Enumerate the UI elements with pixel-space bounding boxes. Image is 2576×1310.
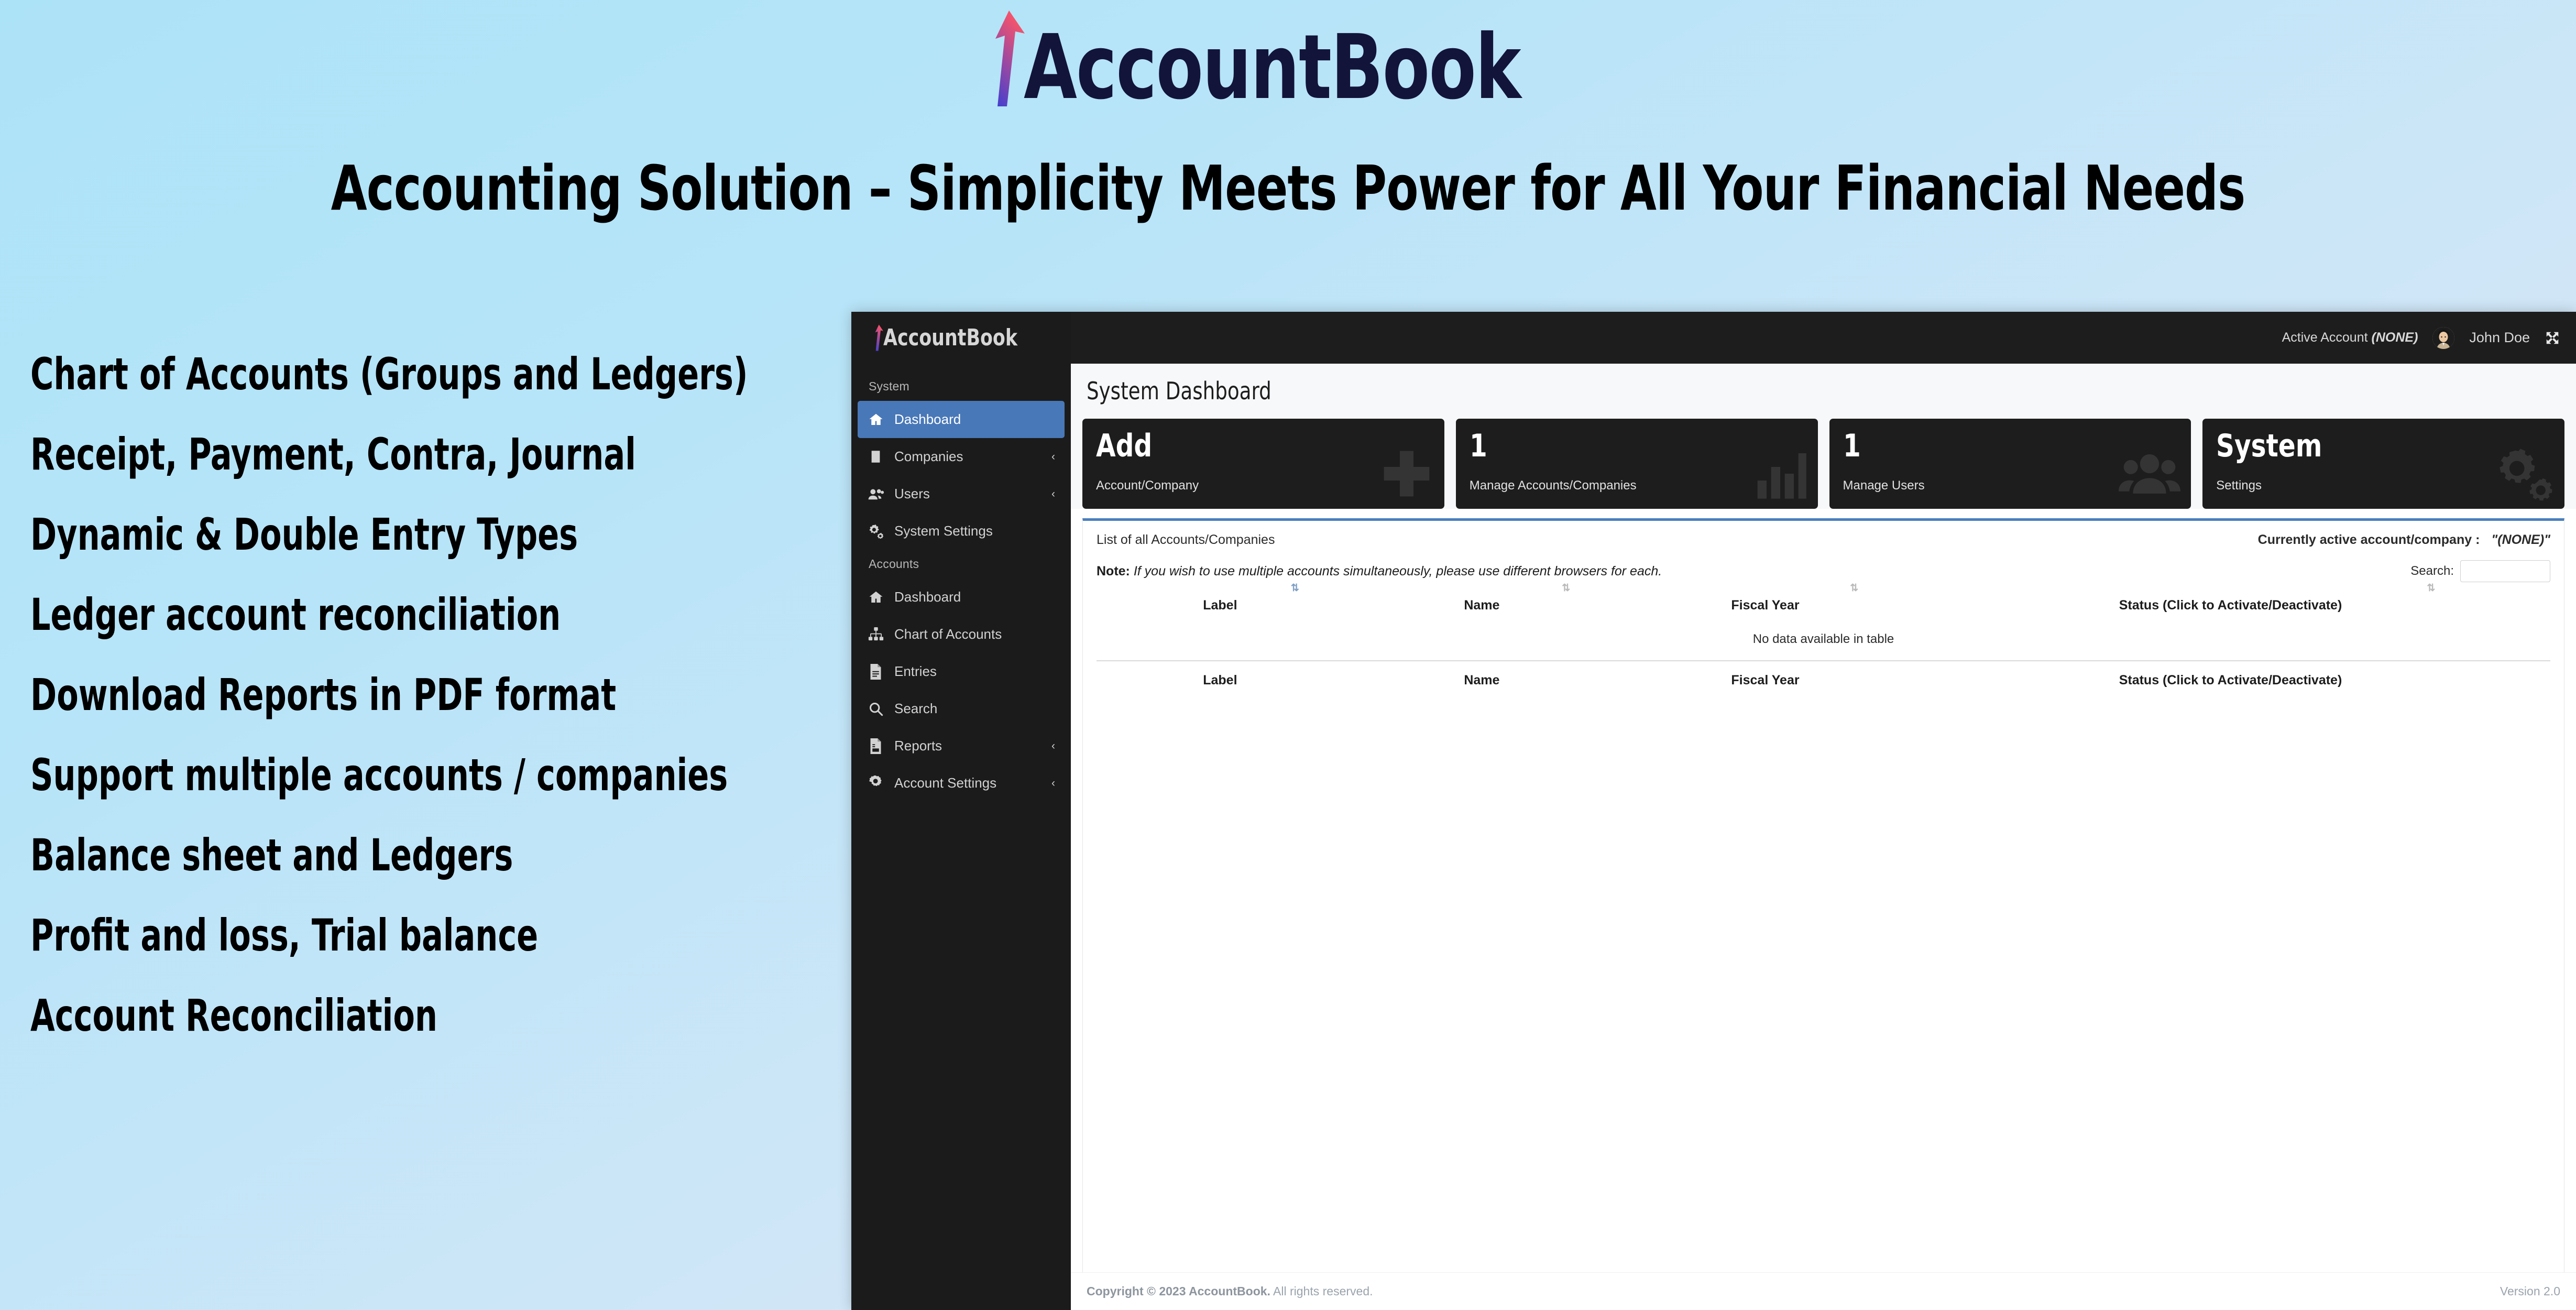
sidebar-item-label: Entries [894,663,1045,680]
accounts-table: Label ⇅ Name ⇅ Fiscal Year ⇅ [1097,589,2550,693]
table-body: No data available in table [1097,623,2550,661]
copyright: Copyright © 2023 AccountBook. All rights… [1087,1284,1373,1298]
footer-label: Label [1097,661,1344,693]
feature-item: Dynamic & Double Entry Types [30,512,672,556]
card-value: 1 [1843,430,2144,462]
building-icon [867,449,884,464]
app-window: AccountBook Active Account (NONE) [851,312,2576,1310]
card-label: Manage Accounts/Companies [1470,478,1637,493]
sidebar-item-label: Reports [894,738,1042,754]
sort-icon: ⇅ [1291,582,1299,594]
card-label: Manage Users [1843,478,1925,493]
app-navbar: AccountBook Active Account (NONE) [851,312,2576,364]
table-footer-row: Label Name Fiscal Year Status (Click to … [1097,661,2550,693]
gears-icon [867,523,884,539]
sidebar-item-label: System Settings [894,523,1045,539]
home-icon [867,412,884,428]
table-empty-text: No data available in table [1097,623,2550,661]
note-row: Note: If you wish to use multiple accoun… [1097,557,2550,589]
file-lines-icon [867,664,884,680]
note-prefix: Note: [1097,564,1130,578]
table-head: Label ⇅ Name ⇅ Fiscal Year ⇅ [1097,589,2550,623]
card-add-account[interactable]: Add Account/Company [1082,419,1444,509]
sort-icon: ⇅ [1850,582,1858,594]
sort-icon: ⇅ [1562,582,1570,594]
sidebar-item-dashboard[interactable]: Dashboard [858,401,1065,438]
sidebar-item-entries[interactable]: Entries [858,653,1065,690]
currently-active-label: Currently active account/company : [2258,532,2480,548]
sidebar-item-chart-of-accounts[interactable]: Chart of Accounts [858,616,1065,653]
sidebar-caret: ‹ [1051,451,1055,463]
sidebar-item-label: Dashboard [894,411,1045,428]
panel-title: List of all Accounts/Companies [1097,532,1275,548]
card-label: Account/Company [1096,478,1199,493]
home-icon [867,589,884,605]
table-empty-row: No data available in table [1097,623,2550,661]
search-label: Search: [2410,564,2454,578]
footer-name: Name [1344,661,1620,693]
feature-list: Chart of Accounts (Groups and Ledgers) R… [30,352,832,1074]
currently-active-account: Currently active account/company : "(NON… [2258,532,2550,548]
user-name[interactable]: John Doe [2469,330,2530,346]
promo-logo: AccountBook [0,9,2576,109]
version-label: Version 2.0 [2500,1284,2560,1298]
active-account-label: Active Account [2282,330,2368,345]
table-search: Search: [2410,560,2550,582]
card-system-settings[interactable]: System Settings [2202,419,2564,509]
feature-item: Receipt, Payment, Contra, Journal [30,432,672,476]
stat-cards: Add Account/Company 1 Manage Accounts/Co… [1071,414,2576,509]
sidebar-item-reports[interactable]: Reports ‹ [858,727,1065,765]
feature-item: Profit and loss, Trial balance [30,913,672,957]
page-title: System Dashboard [1087,377,2413,405]
column-header-fiscal-year[interactable]: Fiscal Year ⇅ [1620,589,1911,623]
column-header-name[interactable]: Name ⇅ [1344,589,1620,623]
users-icon [867,487,884,501]
sitemap-icon [867,627,884,641]
card-manage-users[interactable]: 1 Manage Users [1829,419,2191,509]
sidebar-heading-system: System [851,372,1071,401]
currently-active-value: "(NONE)" [2491,532,2550,548]
main-content: System Dashboard Add Account/Company 1 M… [1071,364,2576,1310]
sidebar-item-label: Search [894,701,1045,717]
app-brand[interactable]: AccountBook [851,312,1071,364]
footer-status: Status (Click to Activate/Deactivate) [1911,661,2550,693]
report-icon [867,738,884,754]
feature-item: Ledger account reconciliation [30,593,672,637]
feature-item: Balance sheet and Ledgers [30,833,672,877]
bar-chart-icon [1753,444,1807,506]
sort-icon: ⇅ [2427,582,2435,594]
sidebar-item-account-settings[interactable]: Account Settings ‹ [858,765,1065,802]
sidebar-item-label: Account Settings [894,775,1042,791]
column-header-text: Status (Click to Activate/Deactivate) [2119,598,2342,613]
panel-body: Note: If you wish to use multiple accoun… [1083,557,2564,693]
sidebar-item-companies[interactable]: Companies ‹ [858,438,1065,475]
app-body: System Dashboard Companies ‹ [851,364,2576,1310]
feature-item: Support multiple accounts / companies [30,753,672,797]
card-value: Add [1096,430,1397,462]
sidebar-item-users[interactable]: Users ‹ [858,475,1065,512]
sidebar-item-label: Chart of Accounts [894,626,1045,642]
sidebar-item-label: Users [894,486,1042,502]
column-header-status[interactable]: Status (Click to Activate/Deactivate) ⇅ [1911,589,2550,623]
active-account-indicator: Active Account (NONE) [2282,330,2418,345]
copyright-bold: Copyright © 2023 AccountBook. [1087,1284,1270,1298]
feature-item: Download Reports in PDF format [30,673,672,717]
sidebar-item-search[interactable]: Search [858,690,1065,727]
feature-item: Account Reconciliation [30,994,672,1038]
active-account-value: (NONE) [2372,330,2418,345]
column-header-text: Name [1464,598,1499,613]
feature-item: Chart of Accounts (Groups and Ledgers) [30,352,672,396]
footer-fiscal-year: Fiscal Year [1620,661,1911,693]
expand-icon[interactable] [2545,330,2560,346]
card-label: Settings [2216,478,2262,493]
column-header-text: Fiscal Year [1731,598,1799,613]
avatar[interactable] [2432,327,2454,349]
plus-icon [1379,444,1434,506]
search-input[interactable] [2460,560,2550,582]
card-manage-accounts[interactable]: 1 Manage Accounts/Companies [1456,419,1818,509]
table-foot: Label Name Fiscal Year Status (Click to … [1097,661,2550,693]
note-text: Note: If you wish to use multiple accoun… [1097,564,1662,579]
accounts-panel: List of all Accounts/Companies Currently… [1082,518,2564,1272]
column-header-label[interactable]: Label ⇅ [1097,589,1344,623]
sidebar-item-system-settings[interactable]: System Settings [858,512,1065,550]
card-value: System [2216,430,2517,462]
gears-icon [2492,444,2554,506]
user-avatar-icon [2432,327,2454,349]
sidebar-item-label: Companies [894,449,1042,465]
search-icon [867,702,884,716]
panel-header: List of all Accounts/Companies Currently… [1083,521,2564,557]
sidebar-heading-accounts: Accounts [851,550,1071,578]
users-icon [2119,444,2180,506]
sidebar-caret: ‹ [1051,488,1055,500]
promo-tagline: Accounting Solution – Simplicity Meets P… [206,152,2370,224]
table-header-row: Label ⇅ Name ⇅ Fiscal Year ⇅ [1097,589,2550,623]
note-body: If you wish to use multiple accounts sim… [1134,564,1662,578]
sidebar-item-label: Dashboard [894,589,1045,605]
app-footer: Copyright © 2023 AccountBook. All rights… [1071,1272,2576,1310]
sidebar-caret: ‹ [1051,777,1055,790]
promo-logo-text: AccountBook [1024,26,1520,109]
copyright-rest: All rights reserved. [1270,1284,1373,1298]
content-header: System Dashboard [1071,364,2576,414]
card-value: 1 [1470,430,1771,462]
gear-icon [867,776,884,791]
sidebar-item-accounts-dashboard[interactable]: Dashboard [858,578,1065,616]
sidebar-caret: ‹ [1051,740,1055,752]
brand-text: AccountBook [883,324,1017,351]
column-header-text: Label [1203,598,1237,613]
navbar-right: Active Account (NONE) John Doe [1071,327,2576,349]
sidebar: System Dashboard Companies ‹ [851,364,1071,1310]
